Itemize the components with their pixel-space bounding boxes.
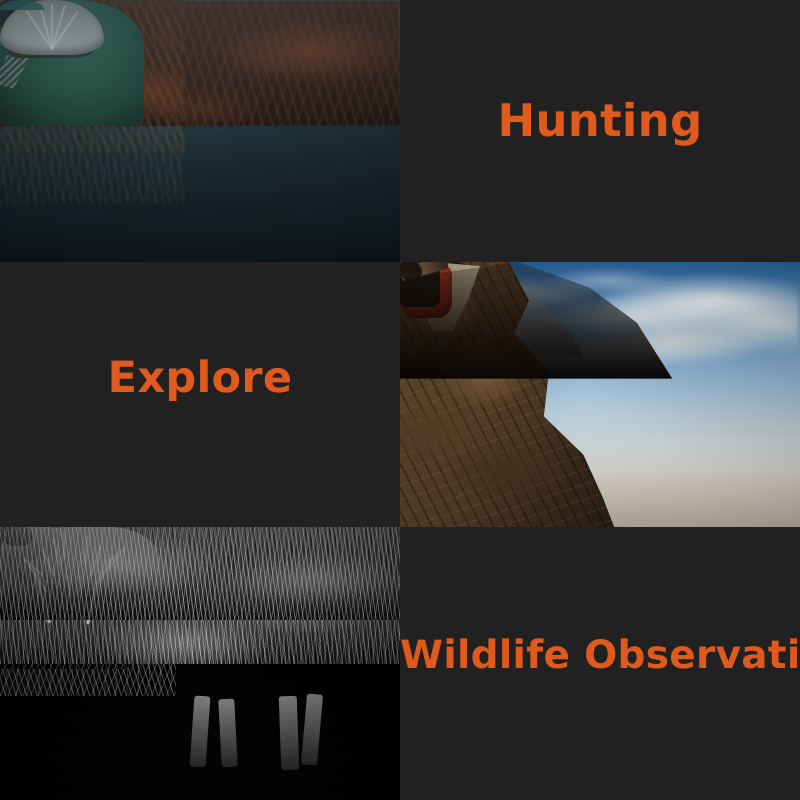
photo-vignette <box>0 0 400 262</box>
collage-canvas: Hunting Explore Wildlife Observation <box>0 0 800 800</box>
photo-climbers <box>400 262 800 527</box>
photo-hunters <box>0 0 400 262</box>
caption-wildlife-observation: Wildlife Observation <box>400 636 800 675</box>
caption-hunting: Hunting <box>400 98 800 143</box>
photo-vignette <box>0 527 400 800</box>
photo-vignette <box>400 262 800 527</box>
caption-explore: Explore <box>0 357 400 400</box>
photo-stag <box>0 527 400 800</box>
